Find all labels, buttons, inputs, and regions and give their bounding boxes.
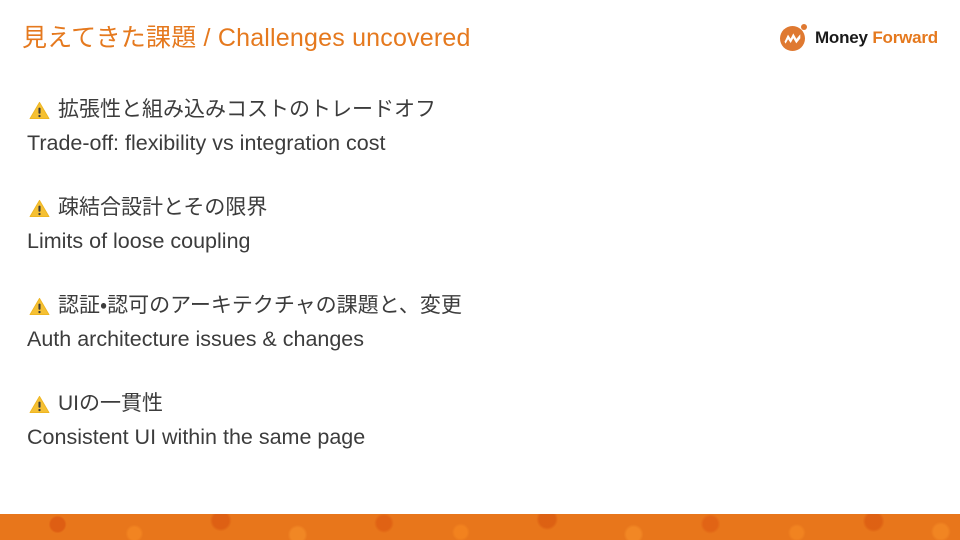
list-item: 認証・認可のアーキテクチャの課題と、変更 Auth architecture i…: [27, 290, 907, 356]
money-forward-swoosh-icon: [780, 23, 808, 51]
logo-word-forward: Forward: [872, 28, 938, 47]
page-title: 見えてきた課題 / Challenges uncovered: [22, 21, 471, 55]
logo-wordmark: Money Forward: [815, 29, 938, 46]
list-item: UIの一貫性 Consistent UI within the same pag…: [27, 388, 907, 454]
bullet-japanese-line: UIの一貫性: [27, 388, 907, 420]
warning-triangle-icon: [29, 297, 50, 316]
bullet-english-text: Limits of loose coupling: [27, 224, 907, 258]
bullet-japanese-text: 拡張性と組み込みコストのトレードオフ: [58, 94, 436, 126]
list-item: 疎結合設計とその限界 Limits of loose coupling: [27, 192, 907, 258]
bullet-japanese-line: 拡張性と組み込みコストのトレードオフ: [27, 94, 907, 126]
bullet-english-text: Trade-off: flexibility vs integration co…: [27, 126, 907, 160]
money-forward-logo: Money Forward: [780, 22, 938, 52]
bullet-japanese-line: 疎結合設計とその限界: [27, 192, 907, 224]
footer-band: [0, 514, 960, 540]
bullet-english-text: Auth architecture issues & changes: [27, 322, 907, 356]
warning-triangle-icon: [29, 199, 50, 218]
bullet-japanese-line: 認証・認可のアーキテクチャの課題と、変更: [27, 290, 907, 322]
list-item: 拡張性と組み込みコストのトレードオフ Trade-off: flexibilit…: [27, 94, 907, 160]
warning-triangle-icon: [29, 395, 50, 414]
challenges-list: 拡張性と組み込みコストのトレードオフ Trade-off: flexibilit…: [27, 94, 907, 454]
bullet-japanese-text: UIの一貫性: [58, 388, 163, 420]
logo-word-money: Money: [815, 28, 868, 47]
bullet-japanese-text: 疎結合設計とその限界: [58, 192, 267, 224]
bullet-japanese-text: 認証・認可のアーキテクチャの課題と、変更: [58, 290, 462, 322]
slide: 見えてきた課題 / Challenges uncovered Money For…: [0, 0, 960, 540]
bullet-english-text: Consistent UI within the same page: [27, 420, 907, 454]
warning-triangle-icon: [29, 101, 50, 120]
